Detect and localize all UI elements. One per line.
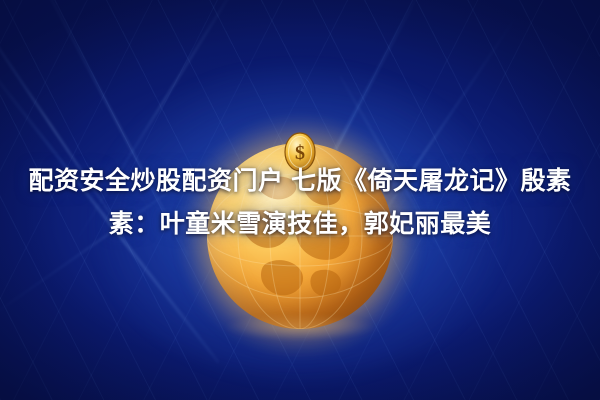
headline-line-2: 素：叶童米雪演技佳，郭妃丽最美 <box>0 203 600 246</box>
promo-banner: $ 配资安全炒股配资门户 七版《倚天屠龙记》殷素 素：叶童米雪演技佳，郭妃丽最美 <box>0 0 600 400</box>
headline-line-1: 配资安全炒股配资门户 七版《倚天屠龙记》殷素 <box>0 160 600 203</box>
banner-headline: 配资安全炒股配资门户 七版《倚天屠龙记》殷素 素：叶童米雪演技佳，郭妃丽最美 <box>0 160 600 246</box>
